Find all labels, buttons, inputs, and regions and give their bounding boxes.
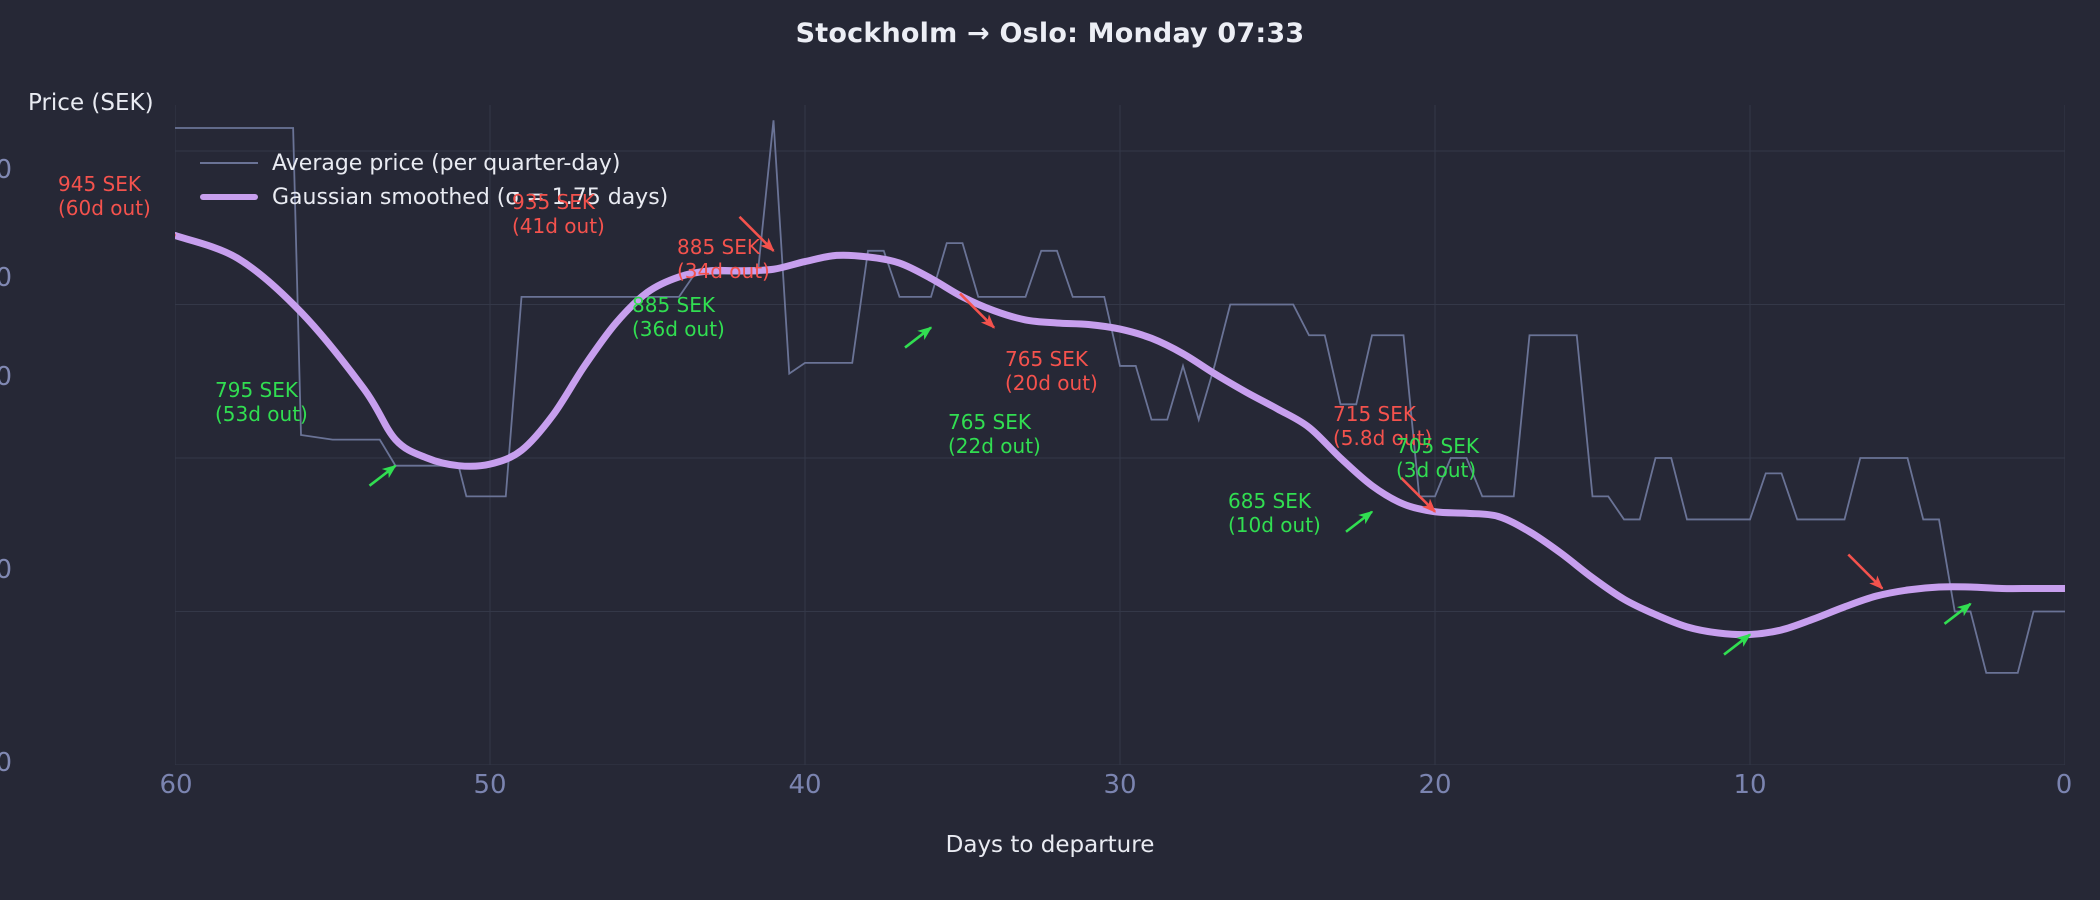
legend-swatch-line-icon	[200, 162, 258, 164]
chart-canvas: Stockholm → Oslo: Monday 07:33 Price (SE…	[0, 0, 2100, 900]
x-tick: 40	[788, 770, 821, 800]
x-tick: 20	[1418, 770, 1451, 800]
legend-swatch-line-icon	[200, 194, 258, 200]
y-tick: 600	[0, 748, 12, 778]
x-tick: 30	[1103, 770, 1136, 800]
x-tick: 60	[159, 770, 192, 800]
y-tick: 700	[0, 555, 12, 585]
legend-label: Average price (per quarter-day)	[272, 151, 620, 176]
annotation-arrows	[175, 201, 1971, 654]
x-tick: 10	[1733, 770, 1766, 800]
y-tick: 1000	[0, 155, 12, 185]
chart-legend: Average price (per quarter-day) Gaussian…	[200, 146, 668, 214]
y-tick: 900	[0, 263, 12, 293]
legend-item-average-price[interactable]: Average price (per quarter-day)	[200, 146, 668, 180]
legend-label: Gaussian smoothed (σ = 1.75 days)	[272, 185, 668, 210]
x-tick: 0	[2056, 770, 2073, 800]
x-tick: 50	[473, 770, 506, 800]
legend-item-gaussian-smoothed[interactable]: Gaussian smoothed (σ = 1.75 days)	[200, 180, 668, 214]
y-tick: 800	[0, 362, 12, 392]
